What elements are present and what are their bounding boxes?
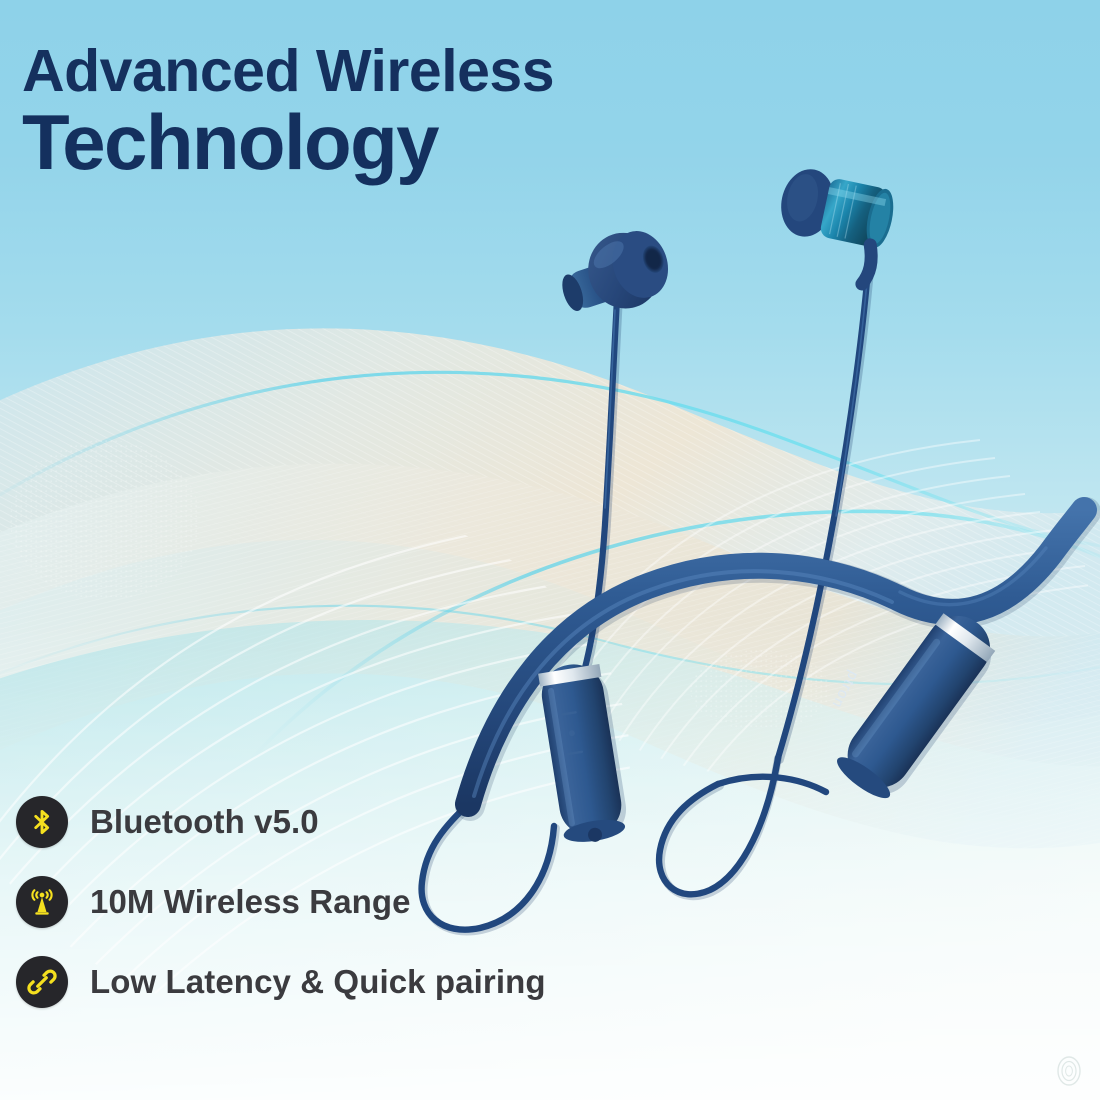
corner-watermark (1052, 1054, 1086, 1088)
headline-line-2: Technology (22, 103, 554, 181)
feature-label-latency: Low Latency & Quick pairing (90, 963, 546, 1001)
feature-item-range: 10M Wireless Range (16, 876, 546, 928)
chain-link-icon (16, 956, 68, 1008)
feature-item-bluetooth: Bluetooth v5.0 (16, 796, 546, 848)
feature-item-latency: Low Latency & Quick pairing (16, 956, 546, 1008)
feature-label-bluetooth: Bluetooth v5.0 (90, 803, 319, 841)
antenna-signal-icon (16, 876, 68, 928)
bluetooth-icon (16, 796, 68, 848)
feature-list: Bluetooth v5.0 10M Wireless Range (16, 796, 546, 1008)
feature-label-range: 10M Wireless Range (90, 883, 411, 921)
product-marketing-poster: Advanced Wireless Technology (0, 0, 1100, 1100)
headline-line-1: Advanced Wireless (22, 42, 554, 101)
page-title: Advanced Wireless Technology (22, 42, 554, 181)
